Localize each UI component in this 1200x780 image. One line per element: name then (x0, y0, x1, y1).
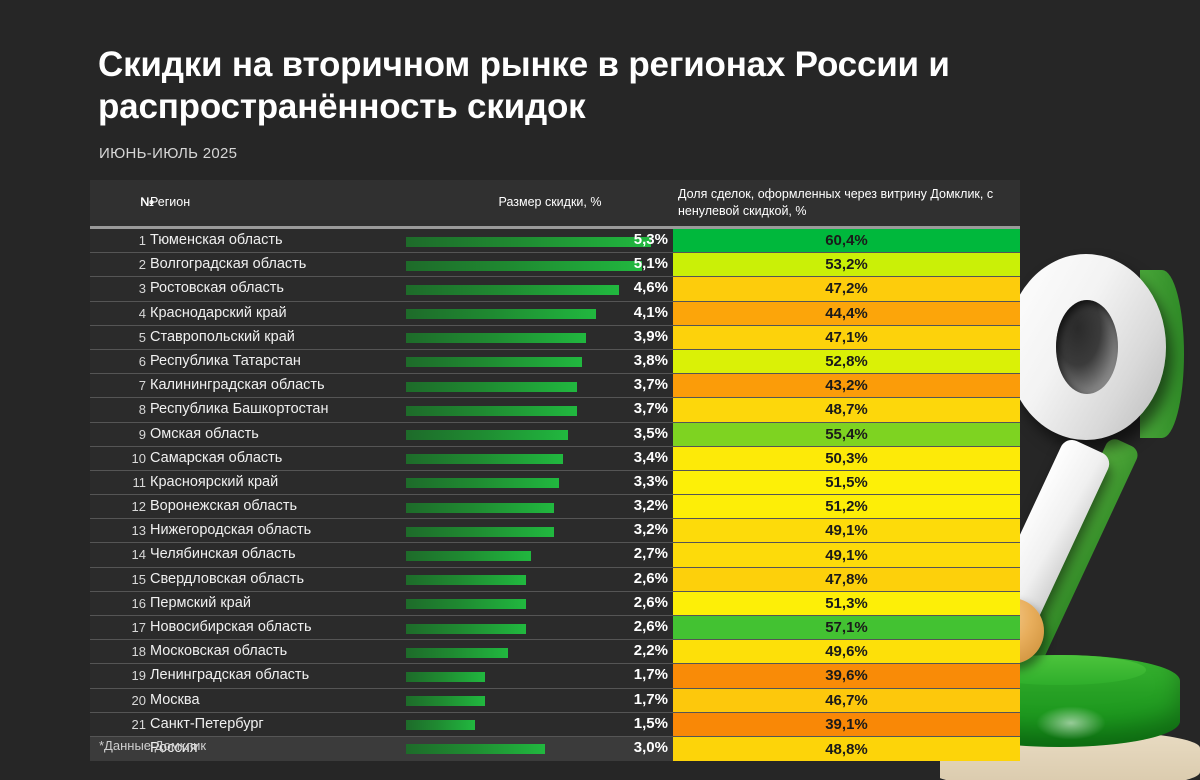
percent-o-green-side (1140, 270, 1184, 438)
table-row: 21Санкт-Петербург1,5%39,1% (90, 713, 1020, 737)
row-region-name: Воронежская область (150, 498, 297, 514)
row-number: 19 (98, 668, 146, 683)
row-number: 4 (98, 306, 146, 321)
row-region-name: Ленинградская область (150, 667, 309, 683)
discount-value: 2,7% (560, 545, 668, 562)
row-region-name: Краснодарский край (150, 305, 287, 321)
discount-bar (406, 720, 475, 730)
discount-bar (406, 648, 508, 658)
share-heatmap-cell: 51,5% (673, 471, 1020, 494)
discount-bar (406, 744, 545, 754)
column-header-share: Доля сделок, оформленных через витрину Д… (678, 186, 1016, 221)
discount-bar (406, 503, 554, 513)
row-region-name: Республика Башкортостан (150, 401, 328, 417)
row-region-name: Тюменская область (150, 232, 283, 248)
row-region-name: Новосибирская область (150, 619, 312, 635)
table-row: 10Самарская область3,4%50,3% (90, 447, 1020, 471)
discount-value: 5,3% (560, 231, 668, 248)
row-number: 1 (98, 233, 146, 248)
data-source-footnote: *Данные Домклик (99, 738, 206, 753)
percent-o-glyph (1006, 254, 1166, 440)
share-heatmap-cell: 51,2% (673, 495, 1020, 518)
table-row: 7Калининградская область3,7%43,2% (90, 374, 1020, 398)
row-region-name: Волгоградская область (150, 256, 306, 272)
row-number: 15 (98, 572, 146, 587)
discount-value: 4,6% (560, 279, 668, 296)
row-number: 17 (98, 620, 146, 635)
row-region-name: Свердловская область (150, 571, 304, 587)
share-heatmap-cell: 47,2% (673, 277, 1020, 300)
row-region-name: Пермский край (150, 595, 251, 611)
table-row: 8Республика Башкортостан3,7%48,7% (90, 398, 1020, 422)
table-row: 4Краснодарский край4,1%44,4% (90, 302, 1020, 326)
discount-bar (406, 357, 582, 367)
podium-highlight (1036, 706, 1106, 740)
row-region-name: Омская область (150, 426, 259, 442)
row-number: 14 (98, 547, 146, 562)
column-header-region: Регион (150, 195, 190, 209)
column-header-number: № (106, 195, 154, 209)
share-heatmap-cell: 55,4% (673, 423, 1020, 446)
discount-value: 3,2% (560, 497, 668, 514)
table-row: 13Нижегородская область3,2%49,1% (90, 519, 1020, 543)
share-heatmap-cell: 50,3% (673, 447, 1020, 470)
table-row: 15Свердловская область2,6%47,8% (90, 568, 1020, 592)
row-number: 5 (98, 330, 146, 345)
share-heatmap-cell: 49,1% (673, 543, 1020, 566)
discount-bar (406, 672, 485, 682)
discount-bar (406, 478, 559, 488)
row-region-name: Республика Татарстан (150, 353, 301, 369)
row-number: 21 (98, 717, 146, 732)
discount-value: 1,7% (560, 666, 668, 683)
discount-bar (406, 406, 577, 416)
table-row: 9Омская область3,5%55,4% (90, 423, 1020, 447)
row-region-name: Санкт-Петербург (150, 716, 264, 732)
discount-value: 3,5% (560, 425, 668, 442)
share-heatmap-cell: 47,8% (673, 568, 1020, 591)
discount-value: 2,2% (560, 642, 668, 659)
discount-bar (406, 333, 586, 343)
table-header-row: № Регион Размер скидки, % Доля сделок, о… (90, 180, 1020, 226)
share-heatmap-cell: 51,3% (673, 592, 1020, 615)
discount-value: 3,9% (560, 328, 668, 345)
discount-bar (406, 551, 531, 561)
row-number: 6 (98, 354, 146, 369)
share-heatmap-cell: 44,4% (673, 302, 1020, 325)
share-heatmap-cell: 49,1% (673, 519, 1020, 542)
share-heatmap-cell: 48,8% (673, 737, 1020, 761)
share-heatmap-cell: 48,7% (673, 398, 1020, 421)
table-row: 12Воронежская область3,2%51,2% (90, 495, 1020, 519)
row-region-name: Калининградская область (150, 377, 325, 393)
page-subtitle: ИЮНЬ-ИЮЛЬ 2025 (99, 145, 237, 162)
discount-bar (406, 696, 485, 706)
table-row: 19Ленинградская область1,7%39,6% (90, 664, 1020, 688)
discount-value: 2,6% (560, 618, 668, 635)
discount-value: 3,7% (560, 376, 668, 393)
table-row: 5Ставропольский край3,9%47,1% (90, 326, 1020, 350)
page-title: Скидки на вторичном рынке в регионах Рос… (98, 44, 1098, 127)
row-number: 9 (98, 427, 146, 442)
discount-value: 3,8% (560, 352, 668, 369)
discount-bar (406, 599, 526, 609)
table-row: 6Республика Татарстан3,8%52,8% (90, 350, 1020, 374)
discount-value: 5,1% (560, 255, 668, 272)
share-heatmap-cell: 57,1% (673, 616, 1020, 639)
row-number: 13 (98, 523, 146, 538)
share-heatmap-cell: 52,8% (673, 350, 1020, 373)
discount-bar (406, 454, 563, 464)
discount-value: 3,4% (560, 449, 668, 466)
discount-value: 4,1% (560, 304, 668, 321)
table-row: 11Красноярский край3,3%51,5% (90, 471, 1020, 495)
discount-value: 3,2% (560, 521, 668, 538)
row-number: 10 (98, 451, 146, 466)
discount-value: 1,7% (560, 691, 668, 708)
table-row: 2Волгоградская область5,1%53,2% (90, 253, 1020, 277)
table-row: 18Московская область2,2%49,6% (90, 640, 1020, 664)
row-region-name: Москва (150, 692, 200, 708)
row-region-name: Ставропольский край (150, 329, 295, 345)
row-number: 2 (98, 257, 146, 272)
row-number: 20 (98, 693, 146, 708)
row-region-name: Ростовская область (150, 280, 284, 296)
share-heatmap-cell: 39,6% (673, 664, 1020, 687)
discount-bar (406, 624, 526, 634)
row-region-name: Нижегородская область (150, 522, 311, 538)
table-row: 14Челябинская область2,7%49,1% (90, 543, 1020, 567)
discount-bar (406, 527, 554, 537)
row-region-name: Красноярский край (150, 474, 278, 490)
row-number: 3 (98, 281, 146, 296)
share-heatmap-cell: 43,2% (673, 374, 1020, 397)
regions-discount-table: № Регион Размер скидки, % Доля сделок, о… (90, 180, 1020, 761)
discount-value: 3,7% (560, 400, 668, 417)
share-heatmap-cell: 39,1% (673, 713, 1020, 736)
table-body: 1Тюменская область5,3%60,4%2Волгоградска… (90, 229, 1020, 761)
table-row: 1Тюменская область5,3%60,4% (90, 229, 1020, 253)
row-number: 7 (98, 378, 146, 393)
row-number: 16 (98, 596, 146, 611)
table-row-total: Россия3,0%48,8% (90, 737, 1020, 761)
row-region-name: Челябинская область (150, 546, 296, 562)
share-heatmap-cell: 53,2% (673, 253, 1020, 276)
row-number: 12 (98, 499, 146, 514)
table-row: 3Ростовская область4,6%47,2% (90, 277, 1020, 301)
row-number: 8 (98, 402, 146, 417)
percent-slash-green-side (1004, 436, 1140, 677)
share-heatmap-cell: 60,4% (673, 229, 1020, 252)
table-row: 17Новосибирская область2,6%57,1% (90, 616, 1020, 640)
discount-value: 2,6% (560, 594, 668, 611)
row-region-name: Самарская область (150, 450, 282, 466)
column-header-discount: Размер скидки, % (430, 195, 670, 209)
row-region-name: Московская область (150, 643, 287, 659)
table-row: 20Москва1,7%46,7% (90, 689, 1020, 713)
discount-value: 3,0% (560, 739, 668, 756)
row-number: 18 (98, 644, 146, 659)
discount-value: 1,5% (560, 715, 668, 732)
discount-bar (406, 575, 526, 585)
share-heatmap-cell: 49,6% (673, 640, 1020, 663)
share-heatmap-cell: 46,7% (673, 689, 1020, 712)
discount-bar (406, 430, 568, 440)
share-heatmap-cell: 47,1% (673, 326, 1020, 349)
table-row: 16Пермский край2,6%51,3% (90, 592, 1020, 616)
row-number: 11 (98, 475, 146, 490)
discount-value: 2,6% (560, 570, 668, 587)
discount-bar (406, 382, 577, 392)
discount-value: 3,3% (560, 473, 668, 490)
